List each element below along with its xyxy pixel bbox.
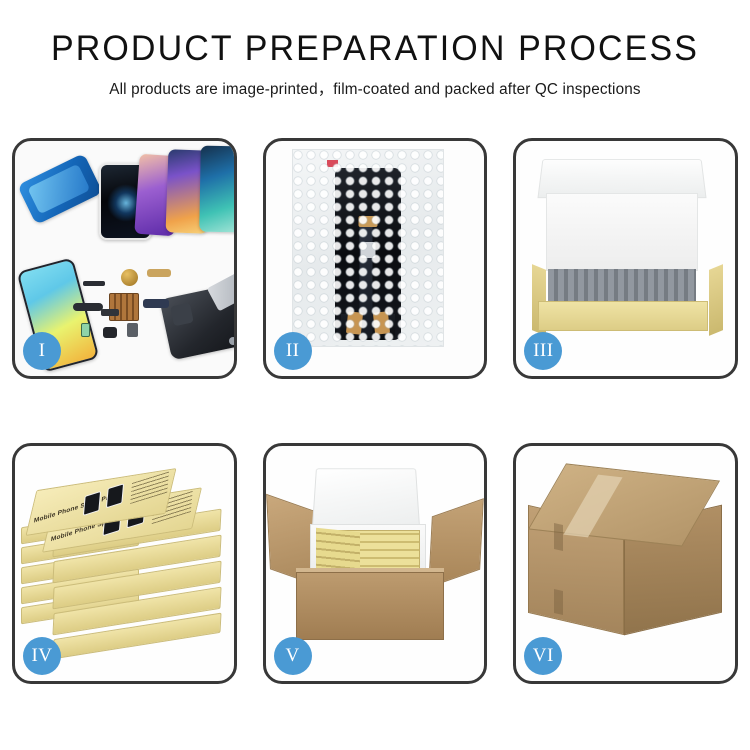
flex-cable-gold <box>147 269 171 277</box>
earpiece-component <box>83 281 105 286</box>
process-grid: I II <box>12 138 738 684</box>
step-badge-2: II <box>274 332 312 370</box>
step-panel-1: I <box>12 138 237 379</box>
bubble-wrap-bag <box>292 149 444 347</box>
infographic-page: PRODUCT PREPARATION PROCESS All products… <box>0 0 750 750</box>
step-panel-5: V <box>263 443 488 684</box>
header: PRODUCT PREPARATION PROCESS All products… <box>0 0 750 99</box>
screw-part <box>229 337 234 345</box>
camera-module <box>103 327 117 338</box>
box-front-kraft <box>538 301 708 331</box>
step-badge-4: IV <box>23 637 61 675</box>
chip-component <box>109 293 139 321</box>
step-badge-5: V <box>274 637 312 675</box>
step-badge-1: I <box>23 332 61 370</box>
box-side-right <box>709 264 723 336</box>
carton-seam <box>554 589 563 615</box>
shipping-carton <box>528 472 722 640</box>
page-subtitle: All products are image-printed，film-coat… <box>0 77 750 99</box>
foam-case-lid <box>312 468 420 528</box>
battery-connector <box>81 323 90 337</box>
step-panel-6: VI <box>513 443 738 684</box>
box-stack: Mobile Phone Spare Parts Mobile Phone Sp… <box>21 460 225 650</box>
phone-back-cover-blue <box>17 153 103 225</box>
vibrator-module <box>127 323 138 337</box>
bubble-texture <box>293 150 443 346</box>
antenna-strip <box>101 309 119 316</box>
foam-sheet <box>546 193 698 271</box>
page-title: PRODUCT PREPARATION PROCESS <box>11 30 739 68</box>
speaker-component <box>121 269 138 286</box>
bubble-wrapped-item <box>548 269 696 303</box>
step-panel-4: Mobile Phone Spare Parts Mobile Phone Sp… <box>12 443 237 684</box>
step-panel-3: III <box>513 138 738 379</box>
flex-cable-blue <box>143 299 169 308</box>
carton-front-panel <box>296 572 444 640</box>
flex-cable-black <box>73 303 103 311</box>
carton-seam <box>554 523 563 551</box>
phone-display-teal <box>199 146 233 233</box>
step-panel-2: II <box>263 138 488 379</box>
